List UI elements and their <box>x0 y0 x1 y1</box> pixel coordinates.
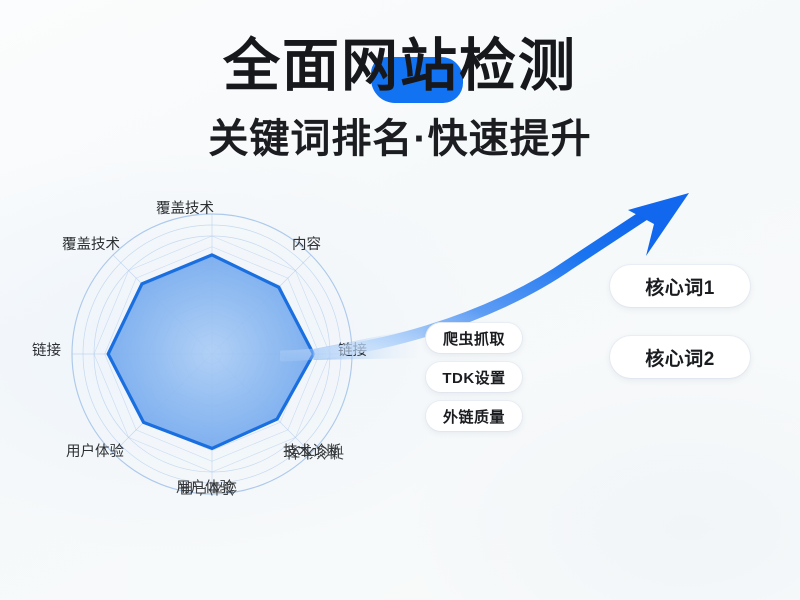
radar-label-bottom: 用户体验 用户体验 <box>176 479 234 497</box>
title-part-after: 检测 <box>459 34 577 98</box>
subhead-container: 关键词排名·快速提升 <box>0 113 800 165</box>
page-title: 全面网站检测 <box>223 30 577 102</box>
keyword-pill-1-label: 核心词2 <box>645 344 715 371</box>
radar-label-top: 覆盖技术 <box>156 200 214 218</box>
radar-label-top-left: 覆盖技术 <box>62 236 120 254</box>
tag-pill-2[interactable]: 外链质量 <box>426 401 522 431</box>
keyword-pill-0[interactable]: 核心词1 <box>610 265 750 307</box>
tag-pill-0-label: 爬虫抓取 <box>443 328 505 349</box>
poster-canvas: 全面网站检测 关键词排名·快速提升 <box>0 0 800 600</box>
title-part-before: 全面 <box>223 34 341 98</box>
tag-pill-2-label: 外链质量 <box>443 406 505 427</box>
radar-label-bottom-right: 技术诊断 技术诊断 <box>283 443 341 461</box>
keyword-pill-1[interactable]: 核心词2 <box>610 336 750 378</box>
headline-container: 全面网站检测 <box>0 30 800 102</box>
page-subtitle: 关键词排名·快速提升 <box>208 113 591 165</box>
tag-pill-1[interactable]: TDK设置 <box>426 362 522 392</box>
title-part-highlight: 网站 <box>341 34 459 98</box>
radar-label-left: 链接 <box>32 342 61 360</box>
radar-label-bottom-left: 用户体验 <box>66 443 124 461</box>
tag-pill-1-label: TDK设置 <box>442 367 505 388</box>
tag-pill-0[interactable]: 爬虫抓取 <box>426 323 522 353</box>
keyword-pill-0-label: 核心词1 <box>645 273 715 300</box>
radar-label-bottom-ghost: 用户体验 <box>179 478 237 496</box>
radar-label-bottom-right-ghost: 技术诊断 <box>286 442 344 460</box>
